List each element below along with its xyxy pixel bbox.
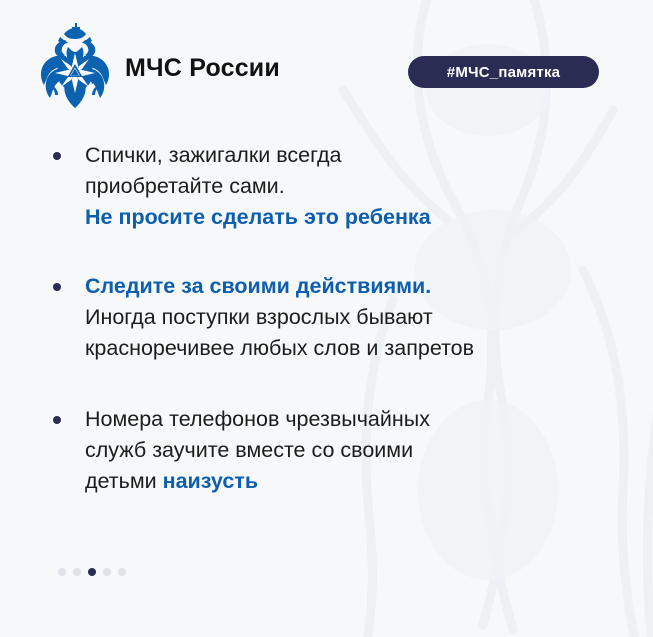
list-item: Номера телефонов чрезвычайных служб зауч… <box>0 404 653 497</box>
bullet-line-accent: наизусть <box>163 469 258 493</box>
pagination-dots[interactable] <box>58 568 126 576</box>
bullet-line-accent: Не просите сделать это ребенка <box>85 202 431 233</box>
hashtag-badge[interactable]: #МЧС_памятка <box>408 56 599 88</box>
bullet-list: Спички, зажигалки всегда приобретайте са… <box>0 140 653 535</box>
bullet-line: Иногда поступки взрослых бывают <box>85 302 474 333</box>
list-item: Следите за своими действиями. Иногда пос… <box>0 271 653 364</box>
bullet-line-accent: Следите за своими действиями. <box>85 271 474 302</box>
bullet-line: приобретайте сами. <box>85 171 431 202</box>
page-title: МЧС России <box>125 54 280 83</box>
bullet-dot-icon <box>53 152 61 160</box>
bullet-line-mixed: детьми наизусть <box>85 466 430 497</box>
bullet-line-plain: детьми <box>85 469 163 493</box>
pagination-dot-3[interactable] <box>88 568 96 576</box>
list-item-text: Следите за своими действиями. Иногда пос… <box>85 271 474 364</box>
pagination-dot-1[interactable] <box>58 568 66 576</box>
bullet-line: Спички, зажигалки всегда <box>85 140 431 171</box>
bullet-line: Номера телефонов чрезвычайных <box>85 404 430 435</box>
header: МЧС России #МЧС_памятка <box>0 0 653 130</box>
list-item-text: Номера телефонов чрезвычайных служб зауч… <box>85 404 430 497</box>
bullet-line: служб заучите вместе со своими <box>85 435 430 466</box>
bullet-dot-icon <box>53 283 61 291</box>
emercom-eagle-emblem-icon <box>38 20 112 114</box>
pagination-dot-4[interactable] <box>103 568 111 576</box>
pagination-dot-2[interactable] <box>73 568 81 576</box>
slide-card: МЧС России #МЧС_памятка Спички, зажигалк… <box>0 0 653 637</box>
bullet-line: красноречивее любых слов и запретов <box>85 333 474 364</box>
list-item: Спички, зажигалки всегда приобретайте са… <box>0 140 653 233</box>
list-item-text: Спички, зажигалки всегда приобретайте са… <box>85 140 431 233</box>
bullet-dot-icon <box>53 416 61 424</box>
pagination-dot-5[interactable] <box>118 568 126 576</box>
